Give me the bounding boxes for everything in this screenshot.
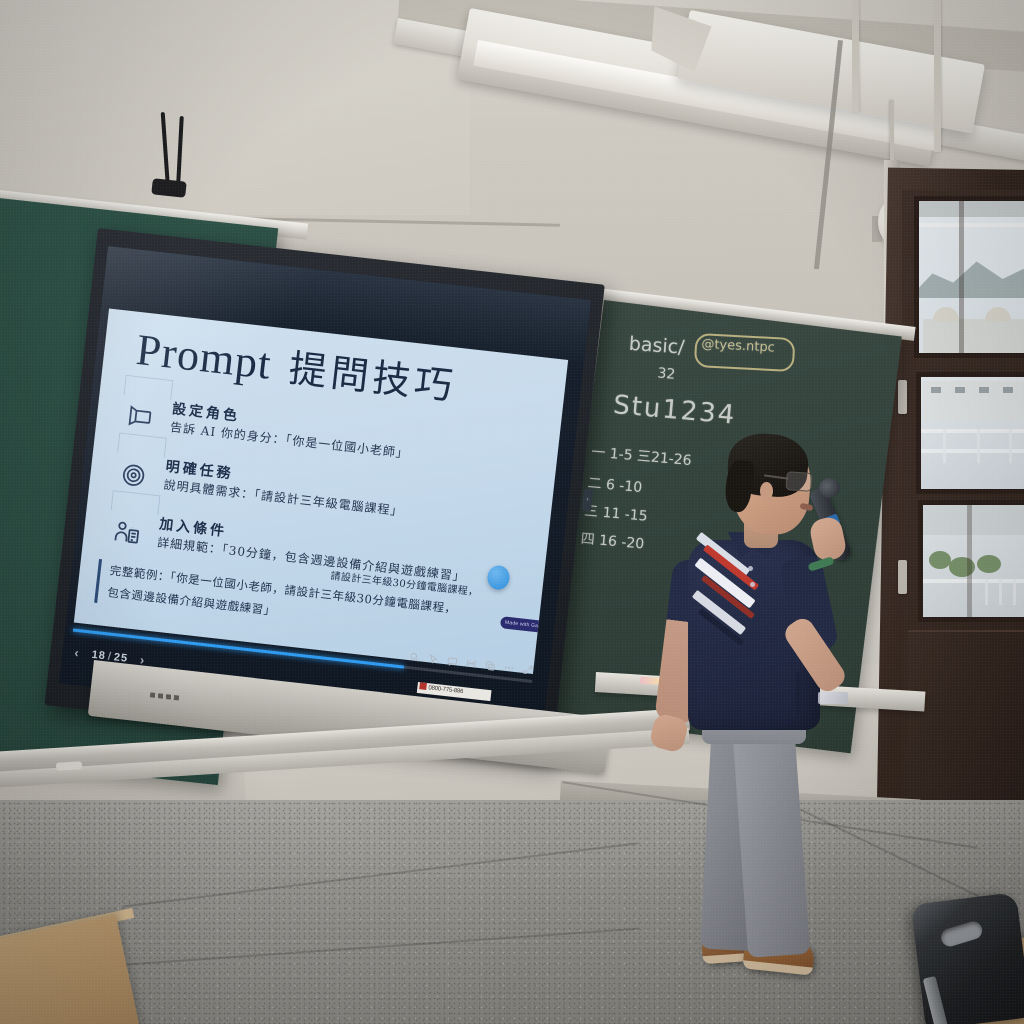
tray-clip: [56, 761, 82, 771]
presentation-slide: Prompt提問技巧 設定角色 告訴 AI 你的身分：「你是一位國小老師」: [74, 309, 568, 675]
door-hinge: [898, 380, 907, 414]
shirt-button: [750, 582, 755, 587]
awning: [919, 201, 1024, 217]
door-hinge: [898, 560, 907, 594]
door-glass-middle: [916, 372, 1024, 494]
presenter: [640, 420, 860, 980]
window-mullion: [967, 505, 972, 617]
rail-post: [1013, 579, 1016, 605]
window-mullion: [959, 201, 964, 353]
rail-post: [977, 429, 980, 463]
rail-post: [943, 429, 946, 463]
light-hanger-rod: [934, 0, 941, 152]
shrub: [977, 555, 1001, 573]
classroom-floor: [0, 800, 1024, 1024]
window-opening: [955, 387, 965, 393]
building: [923, 319, 1024, 353]
chalk-line-group4: 四 16 -20: [580, 528, 645, 553]
search-zoom-icon[interactable]: [409, 651, 421, 663]
chair-support-post: [923, 976, 948, 1024]
example-accent-bar: [94, 559, 102, 603]
person-checklist-icon: [113, 519, 142, 548]
light-hanger-rod: [852, 0, 859, 112]
antenna-base: [151, 178, 186, 197]
interactive-display-screen[interactable]: Prompt提問技巧 設定角色 告訴 AI 你的身分：「你是一位國小老師」: [59, 246, 591, 737]
window-opening: [979, 387, 989, 393]
slide-title-cjk: 提問技巧: [287, 346, 459, 408]
rail-post: [985, 579, 988, 605]
pointer-icon[interactable]: [427, 653, 439, 665]
building: [923, 505, 1024, 535]
window-opening: [931, 387, 941, 393]
shirt-placket: [796, 672, 800, 714]
bullet-2-detail: 說明具體需求：「請設計三年級電腦課程」: [163, 476, 404, 520]
shirt-button: [748, 566, 753, 571]
shirt-logo: [818, 692, 848, 704]
rail-post: [1009, 429, 1012, 463]
target-spiral-icon: [119, 461, 148, 490]
prev-slide-button[interactable]: ‹: [74, 645, 81, 661]
chalk-line-32: 32: [657, 365, 676, 382]
door-glass-lower: [918, 500, 1024, 622]
chair-handle-slot: [939, 919, 984, 948]
presentation-flag-icon: [126, 403, 155, 432]
bullet-1-detail: 告訴 AI 你的身分：「你是一位國小老師」: [169, 418, 409, 462]
more-options-icon[interactable]: [503, 661, 515, 673]
gamma-watermark-badge[interactable]: Made with Gamma: [500, 616, 555, 634]
glasses-lens: [785, 471, 812, 492]
duplicate-icon[interactable]: [484, 659, 496, 671]
office-chair[interactable]: [911, 892, 1024, 1024]
chalk-line-group2: 二 6 -10: [587, 472, 643, 497]
cursor-dot-indicator: [486, 564, 511, 590]
shrub: [929, 551, 951, 569]
window-opening: [1003, 387, 1013, 393]
window-rail: [919, 223, 1024, 227]
presenter-ear: [760, 482, 773, 500]
chalk-line-basic: basic/: [628, 333, 685, 359]
classroom-photo-scene: basic/ 32 @tyes.ntpc Stu1234 一 1-5 三21-2…: [0, 0, 1024, 1024]
fullscreen-icon[interactable]: [522, 663, 534, 675]
balcony-rail: [923, 579, 1024, 583]
transition-icon[interactable]: [465, 657, 477, 669]
rail-post: [999, 579, 1002, 605]
chalk-line-group3: 三 11 -15: [583, 500, 648, 525]
door-glass-upper: [914, 196, 1024, 358]
comment-icon[interactable]: [446, 655, 458, 667]
floor-texture: [0, 800, 1024, 1024]
